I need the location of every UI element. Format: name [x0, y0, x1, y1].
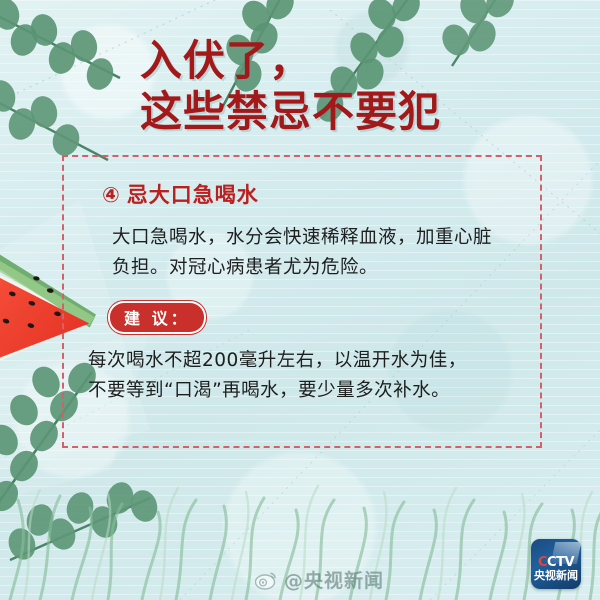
content-card-inner: ④忌大口急喝水 大口急喝水，水分会快速稀释血液，加重心脏 负担。对冠心病患者尤为…	[64, 157, 540, 446]
content-card: ④忌大口急喝水 大口急喝水，水分会快速稀释血液，加重心脏 负担。对冠心病患者尤为…	[62, 155, 542, 448]
section-heading-text: 忌大口急喝水	[127, 183, 259, 207]
page-title: 入伏了， 这些禁忌不要犯	[140, 38, 520, 135]
cctv-logo-subtitle: 央视新闻	[531, 570, 581, 581]
advice-line-2: 不要等到“口渴”再喝水，要少量多次补水。	[88, 376, 520, 406]
title-line-1: 入伏了，	[140, 38, 520, 83]
advice-line-1: 每次喝水不超200毫升左右，以温开水为佳，	[88, 346, 520, 376]
title-line-2: 这些禁忌不要犯	[140, 89, 520, 134]
advice-badge: 建 议：	[108, 301, 206, 334]
cctv-logo-brand-ctv: CTV	[547, 555, 574, 570]
body-line-1: 大口急喝水，水分会快速稀释血液，加重心脏	[112, 223, 520, 253]
weibo-handle: @央视新闻	[284, 566, 384, 593]
weibo-logo-icon	[255, 570, 279, 590]
body-line-2: 负担。对冠心病患者尤为危险。	[112, 253, 520, 283]
advice-body: 每次喝水不超200毫升左右，以温开水为佳， 不要等到“口渴”再喝水，要少量多次补…	[88, 346, 520, 406]
section-number: ④	[102, 183, 121, 207]
section-heading: ④忌大口急喝水	[102, 179, 520, 209]
advice-badge-row: 建 议：	[108, 301, 520, 334]
weibo-watermark: @央视新闻	[255, 566, 384, 593]
section-body: 大口急喝水，水分会快速稀释血液，加重心脏 负担。对冠心病患者尤为危险。	[112, 223, 520, 283]
poster-root: 入伏了， 这些禁忌不要犯 ④忌大口急喝水 大口急喝水，水分会快速稀释血液，加重心…	[0, 0, 600, 600]
cctv-logo: CCTV 央视新闻	[531, 539, 581, 589]
cctv-logo-brand: CCTV	[531, 556, 581, 569]
cctv-logo-brand-c: C	[538, 555, 547, 570]
